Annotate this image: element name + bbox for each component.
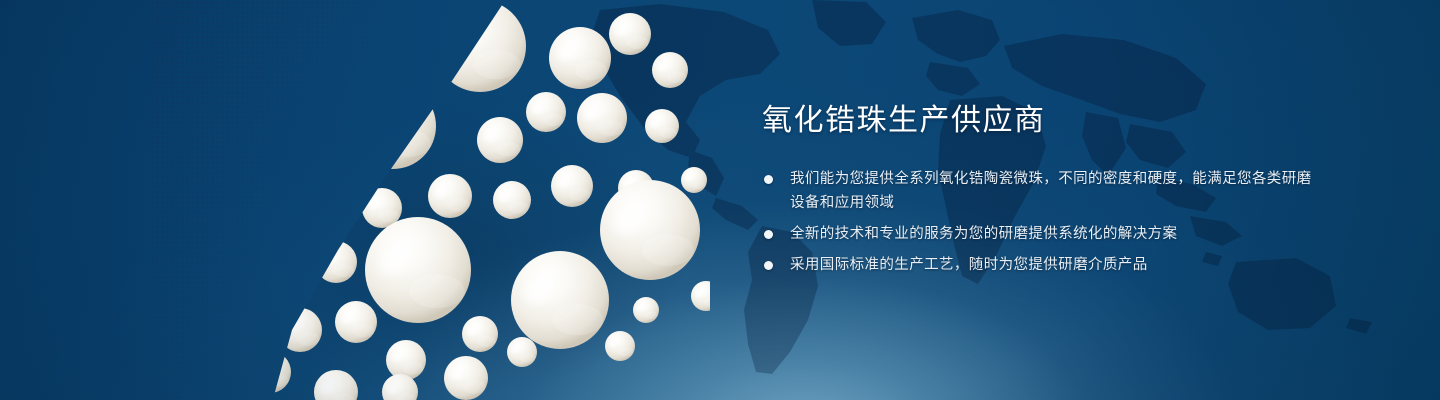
list-item: 全新的技术和专业的服务为您的研磨提供系统化的解决方案 [762, 222, 1322, 246]
bullet-dot-icon [764, 261, 773, 270]
page-title: 氧化锆珠生产供应商 [762, 104, 1322, 137]
zirconia-beads-photo [150, 0, 710, 400]
list-item: 采用国际标准的生产工艺，随时为您提供研磨介质产品 [762, 253, 1322, 277]
list-item-label: 采用国际标准的生产工艺，随时为您提供研磨介质产品 [790, 253, 1322, 277]
bullet-dot-icon [764, 175, 773, 184]
list-item-label: 我们能为您提供全系列氧化锆陶瓷微珠，不同的密度和硬度，能满足您各类研磨设备和应用… [790, 167, 1322, 215]
banner-copy: 氧化锆珠生产供应商 我们能为您提供全系列氧化锆陶瓷微珠，不同的密度和硬度，能满足… [762, 104, 1322, 277]
feature-list: 我们能为您提供全系列氧化锆陶瓷微珠，不同的密度和硬度，能满足您各类研磨设备和应用… [762, 167, 1322, 277]
list-item: 我们能为您提供全系列氧化锆陶瓷微珠，不同的密度和硬度，能满足您各类研磨设备和应用… [762, 167, 1322, 215]
bullet-dot-icon [764, 230, 773, 239]
hero-banner: 氧化锆珠生产供应商 我们能为您提供全系列氧化锆陶瓷微珠，不同的密度和硬度，能满足… [0, 0, 1440, 400]
list-item-label: 全新的技术和专业的服务为您的研磨提供系统化的解决方案 [790, 222, 1322, 246]
